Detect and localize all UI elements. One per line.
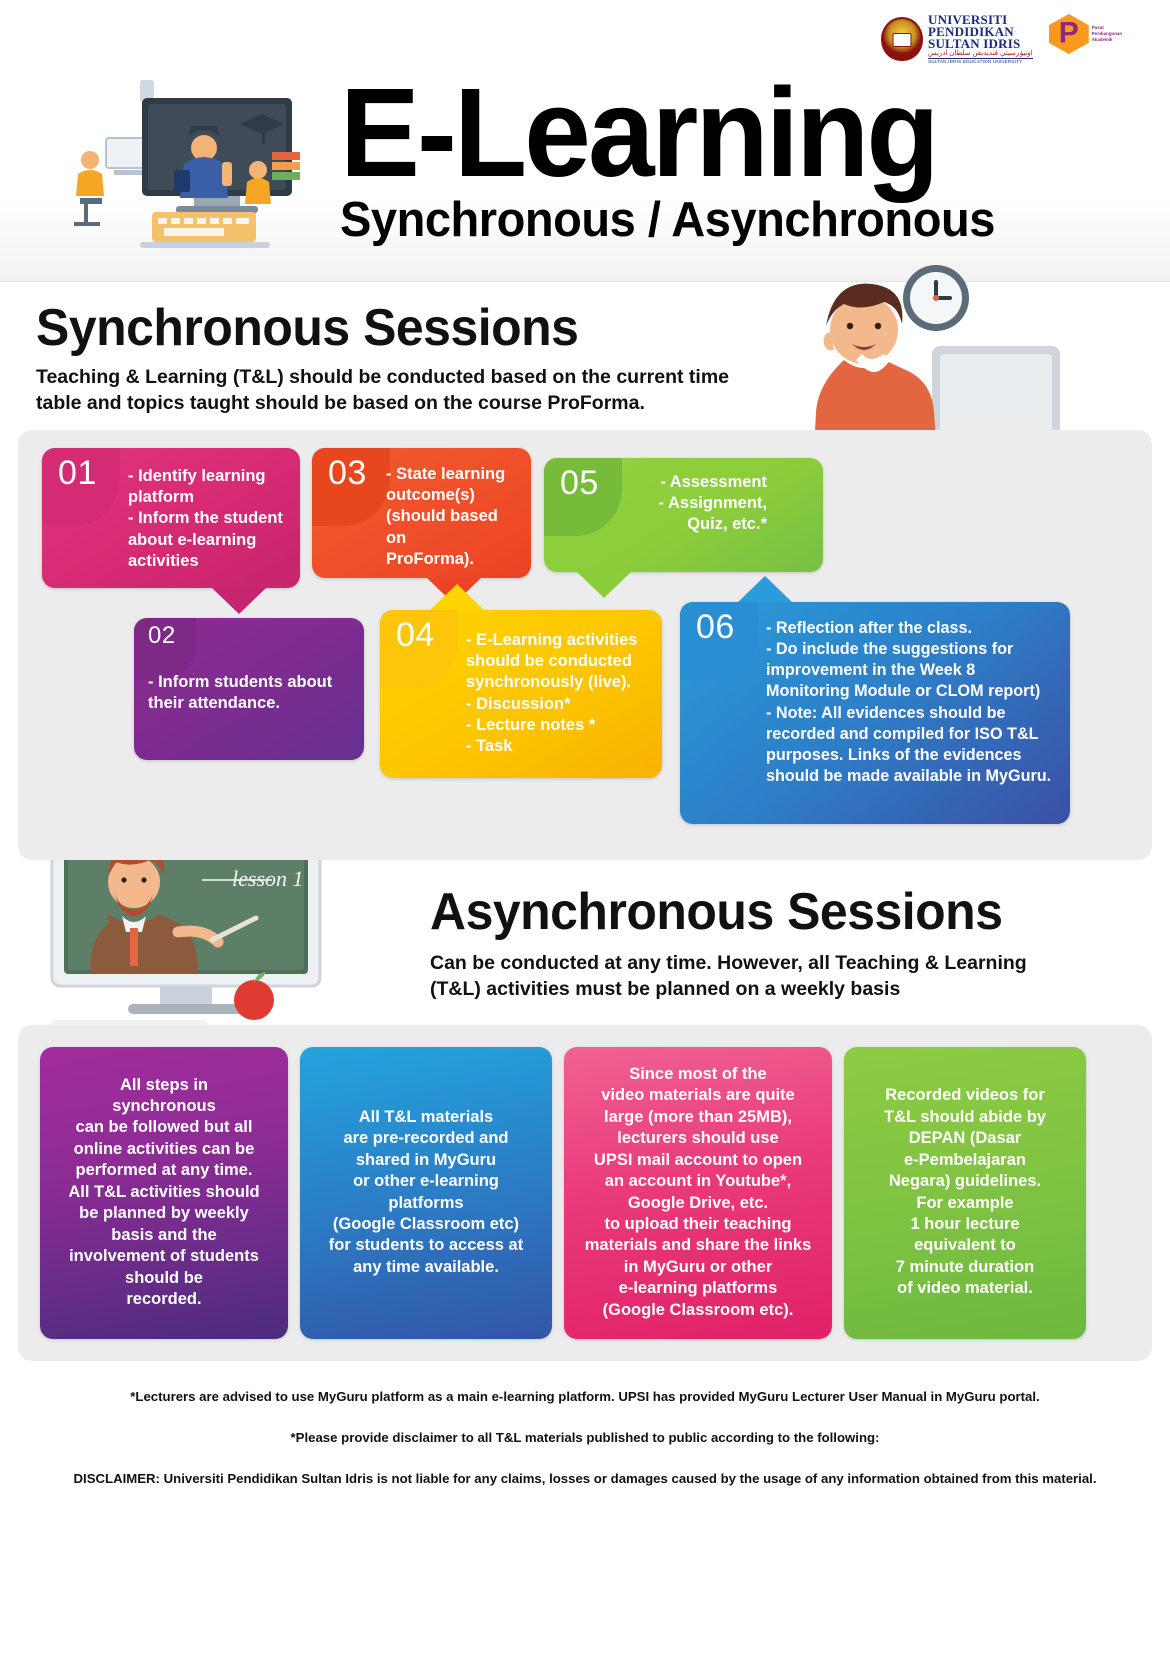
- step-number-04: 04: [380, 610, 435, 652]
- async-card-4: Recorded videos for T&L should abide by …: [844, 1047, 1086, 1339]
- ppa-logo: Pusat Pembangunan Akademik: [1049, 14, 1122, 54]
- asynchronous-cards-panel: All steps in synchronous can be followed…: [18, 1025, 1152, 1361]
- page-subtitle: Synchronous / Asynchronous: [340, 192, 1002, 248]
- footer-spacer-1: [60, 1406, 1110, 1428]
- step-number-05: 05: [544, 458, 599, 500]
- async-card-2: All T&L materials are pre-recorded and s…: [300, 1047, 552, 1339]
- step-text-05: - Assessment - Assignment, Quiz, etc.*: [628, 472, 767, 535]
- title-block: E-Learning Synchronous / Asynchronous: [340, 70, 1030, 248]
- synchronous-header: Synchronous Sessions Teaching & Learning…: [0, 298, 1170, 416]
- synchronous-description: Teaching & Learning (T&L) should be cond…: [36, 364, 736, 416]
- step-number-02: 02: [134, 618, 176, 648]
- step-text-06: - Reflection after the class. - Do inclu…: [766, 618, 1056, 787]
- step-number-badge-04: 04: [380, 610, 458, 688]
- ppa-hexagon-p-icon: [1049, 14, 1089, 54]
- step-card-04: 04 - E-Learning activities should be con…: [380, 610, 662, 778]
- synchronous-steps-panel: 01 - Identify learning platform - Inform…: [18, 430, 1152, 860]
- upsi-logo-jawi: اونيۏرسيتي ڤنديديقن سلطان ادريس: [928, 51, 1033, 57]
- step-number-06: 06: [680, 602, 735, 644]
- upsi-logo-line3: SULTAN IDRIS: [928, 38, 1033, 50]
- asynchronous-header: Asynchronous Sessions Can be conducted a…: [0, 860, 1170, 1002]
- ppa-logo-line3: Akademik: [1092, 37, 1122, 43]
- footer-note-2: *Please provide disclaimer to all T&L ma…: [60, 1428, 1110, 1447]
- step-text-01: - Identify learning platform - Inform th…: [128, 466, 288, 572]
- step-number-badge-03: 03: [312, 448, 390, 526]
- step-card-02: 02 - Inform students about their attenda…: [134, 618, 364, 760]
- upsi-logo-text: UNIVERSITI PENDIDIKAN SULTAN IDRIS اونيۏ…: [928, 14, 1033, 65]
- step-pointer-04: [430, 584, 484, 610]
- classroom-illustration: [44, 52, 306, 268]
- ppa-logo-text: Pusat Pembangunan Akademik: [1092, 25, 1122, 43]
- footer-disclaimer: DISCLAIMER: Universiti Pendidikan Sultan…: [60, 1469, 1110, 1488]
- logo-group: UNIVERSITI PENDIDIKAN SULTAN IDRIS اونيۏ…: [881, 14, 1122, 65]
- async-card-1: All steps in synchronous can be followed…: [40, 1047, 288, 1339]
- page-header: UNIVERSITI PENDIDIKAN SULTAN IDRIS اونيۏ…: [0, 0, 1170, 282]
- footer-spacer-2: [60, 1447, 1110, 1469]
- synchronous-title: Synchronous Sessions: [36, 298, 1125, 358]
- async-card-3: Since most of the video materials are qu…: [564, 1047, 832, 1339]
- asynchronous-section: lesson 1 Asynchronous Sessions Can be co…: [0, 860, 1170, 1360]
- page-footer: *Lecturers are advised to use MyGuru pla…: [0, 1361, 1170, 1502]
- step-number-03: 03: [312, 448, 367, 490]
- step-pointer-05: [577, 572, 631, 598]
- page-title: E-Learning: [340, 70, 996, 196]
- synchronous-section: Synchronous Sessions Teaching & Learning…: [0, 282, 1170, 860]
- footer-note-1: *Lecturers are advised to use MyGuru pla…: [60, 1387, 1110, 1406]
- upsi-logo-english: SULTAN IDRIS EDUCATION UNIVERSITY: [928, 58, 1033, 64]
- step-number-badge-05: 05: [544, 458, 622, 536]
- asynchronous-title: Asynchronous Sessions: [430, 882, 1102, 942]
- step-card-05: 05 - Assessment - Assignment, Quiz, etc.…: [544, 458, 823, 572]
- step-pointer-06: [738, 576, 792, 602]
- upsi-logo: UNIVERSITI PENDIDIKAN SULTAN IDRIS اونيۏ…: [881, 14, 1033, 65]
- step-pointer-01: [212, 588, 266, 614]
- step-number-badge-06: 06: [680, 602, 758, 680]
- step-card-03: 03 - State learning outcome(s) (should b…: [312, 448, 531, 578]
- step-text-04: - E-Learning activities should be conduc…: [466, 630, 650, 757]
- step-number-badge-01: 01: [42, 448, 120, 526]
- step-card-01: 01 - Identify learning platform - Inform…: [42, 448, 300, 588]
- step-number-badge-02: 02: [134, 618, 196, 680]
- upsi-crest-icon: [881, 17, 923, 61]
- asynchronous-description: Can be conducted at any time. However, a…: [430, 950, 1050, 1002]
- step-card-06: 06 - Reflection after the class. - Do in…: [680, 602, 1070, 824]
- step-text-03: - State learning outcome(s) (should base…: [386, 464, 521, 570]
- step-text-02: - Inform students about their attendance…: [148, 672, 350, 714]
- step-number-01: 01: [42, 448, 97, 490]
